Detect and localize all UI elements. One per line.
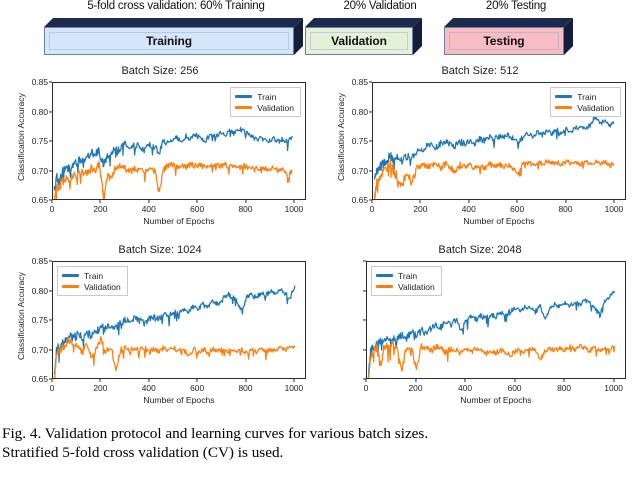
legend-row-validation: Validation: [62, 281, 121, 292]
x-tick-label: 0: [370, 204, 375, 214]
x-tick-label: 1000: [605, 204, 624, 214]
legend-text-train: Train: [257, 92, 276, 102]
y-tick-label: 0.75: [32, 136, 48, 146]
box-front-face: Validation: [305, 27, 413, 55]
x-axis-label-bs1024: Number of Epochs: [52, 395, 306, 405]
x-tick-mark: [245, 200, 246, 203]
legend-row-train: Train: [376, 270, 435, 281]
y-tick-label: 0.75: [32, 315, 48, 325]
x-axis-label-bs2048: Number of Epochs: [366, 395, 626, 405]
y-tick-mark: [369, 81, 372, 82]
x-tick-label: 600: [190, 204, 204, 214]
x-tick-mark: [613, 379, 614, 382]
x-tick-mark: [245, 379, 246, 382]
x-tick-label: 800: [557, 383, 571, 393]
x-tick-label: 200: [93, 383, 107, 393]
x-tick-mark: [365, 379, 366, 382]
y-tick-mark: [49, 319, 52, 320]
plot-area-bs256: 0.650.700.750.800.8502004006008001000Cla…: [52, 82, 306, 200]
y-axis-label-bs512: Classification Accuracy: [336, 93, 346, 181]
legend-text-train: Train: [398, 271, 417, 281]
x-tick-mark: [148, 200, 149, 203]
y-tick-label: 0.80: [32, 286, 48, 296]
x-tick-label: 800: [239, 383, 253, 393]
box-label-training: Training: [146, 34, 192, 48]
chart-bs2048: Batch Size: 204802004006008001000Number …: [320, 241, 640, 420]
y-tick-mark: [363, 290, 366, 291]
series-line-validation: [54, 337, 295, 379]
legend-text-validation: Validation: [257, 103, 294, 113]
x-tick-label: 400: [142, 204, 156, 214]
y-tick-mark: [49, 260, 52, 261]
x-axis-label-bs512: Number of Epochs: [372, 216, 626, 226]
x-tick-label: 0: [50, 204, 55, 214]
y-axis-label-bs256: Classification Accuracy: [16, 93, 26, 181]
y-tick-mark: [49, 140, 52, 141]
legend-text-validation: Validation: [577, 103, 614, 113]
legend-bs2048[interactable]: TrainValidation: [371, 266, 442, 296]
y-tick-mark: [49, 170, 52, 171]
y-tick-mark: [363, 260, 366, 261]
box-front-face: Testing: [444, 27, 564, 55]
legend-text-train: Train: [84, 271, 103, 281]
y-tick-label: 0.85: [32, 256, 48, 266]
figure-page: 5-fold cross validation: 60% Training20%…: [0, 0, 640, 482]
y-tick-label: 0.70: [32, 345, 48, 355]
x-tick-mark: [100, 200, 101, 203]
x-tick-label: 0: [50, 383, 55, 393]
protocol-box-validation: Validation: [305, 18, 422, 55]
chart-bs256: Batch Size: 2560.650.700.750.800.8502004…: [0, 62, 320, 241]
y-tick-mark: [363, 319, 366, 320]
x-tick-mark: [51, 379, 52, 382]
chart-title-bs256: Batch Size: 256: [0, 65, 320, 77]
protocol-box-training: Training: [44, 18, 303, 55]
y-tick-label: 0.65: [352, 195, 368, 205]
legend-swatch-validation: [376, 285, 393, 287]
legend-bs1024[interactable]: TrainValidation: [57, 266, 128, 296]
y-tick-mark: [49, 81, 52, 82]
x-tick-mark: [415, 379, 416, 382]
plot-area-bs2048: 02004006008001000Number of EpochsTrainVa…: [366, 261, 626, 379]
x-tick-mark: [465, 379, 466, 382]
x-tick-label: 600: [510, 204, 524, 214]
validation-protocol-diagram: 5-fold cross validation: 60% Training20%…: [0, 0, 640, 62]
y-tick-mark: [369, 111, 372, 112]
y-tick-label: 0.65: [32, 374, 48, 384]
y-tick-mark: [49, 349, 52, 350]
legend-bs256[interactable]: TrainValidation: [230, 87, 301, 117]
y-tick-label: 0.85: [32, 77, 48, 87]
learning-curves-grid: Batch Size: 2560.650.700.750.800.8502004…: [0, 62, 640, 420]
box-label-testing: Testing: [483, 34, 524, 48]
x-tick-mark: [517, 200, 518, 203]
x-axis-label-bs256: Number of Epochs: [52, 216, 306, 226]
y-axis-label-bs1024: Classification Accuracy: [16, 272, 26, 360]
x-tick-mark: [51, 200, 52, 203]
caption-line-1: Fig. 4. Validation protocol and learning…: [2, 424, 638, 443]
y-tick-mark: [363, 349, 366, 350]
figure-caption: Fig. 4. Validation protocol and learning…: [2, 424, 638, 463]
x-tick-mark: [565, 200, 566, 203]
x-tick-mark: [420, 200, 421, 203]
y-tick-mark: [369, 170, 372, 171]
x-tick-mark: [293, 200, 294, 203]
y-tick-label: 0.70: [32, 166, 48, 176]
legend-row-validation: Validation: [555, 102, 614, 113]
x-tick-mark: [564, 379, 565, 382]
legend-row-train: Train: [235, 91, 294, 102]
protocol-label-0: 5-fold cross validation: 60% Training: [52, 0, 300, 12]
legend-swatch-validation: [62, 285, 79, 287]
legend-swatch-validation: [555, 106, 572, 108]
box-top-face: [44, 18, 303, 27]
box-top-face: [305, 18, 422, 27]
x-tick-mark: [613, 200, 614, 203]
legend-text-validation: Validation: [84, 282, 121, 292]
x-tick-mark: [371, 200, 372, 203]
legend-swatch-train: [62, 274, 79, 276]
y-tick-label: 0.85: [352, 77, 368, 87]
x-tick-label: 0: [364, 383, 369, 393]
y-tick-label: 0.80: [32, 107, 48, 117]
legend-swatch-train: [376, 274, 393, 276]
x-tick-label: 800: [239, 204, 253, 214]
legend-text-train: Train: [577, 92, 596, 102]
protocol-label-1: 20% Validation: [330, 0, 430, 12]
x-tick-label: 200: [93, 204, 107, 214]
x-tick-mark: [148, 379, 149, 382]
legend-row-train: Train: [62, 270, 121, 281]
chart-bs512: Batch Size: 5120.650.700.750.800.8502004…: [320, 62, 640, 241]
x-tick-mark: [514, 379, 515, 382]
y-tick-mark: [49, 111, 52, 112]
y-tick-mark: [369, 140, 372, 141]
x-tick-mark: [197, 379, 198, 382]
x-tick-label: 200: [413, 204, 427, 214]
y-tick-label: 0.65: [32, 195, 48, 205]
box-label-validation: Validation: [331, 34, 387, 48]
legend-swatch-validation: [235, 106, 252, 108]
legend-row-train: Train: [555, 91, 614, 102]
caption-line-2: Stratified 5-fold cross validation (CV) …: [2, 443, 638, 462]
x-tick-label: 1000: [285, 383, 304, 393]
series-line-train: [54, 286, 295, 375]
x-tick-label: 400: [462, 204, 476, 214]
x-tick-label: 600: [190, 383, 204, 393]
x-tick-label: 1000: [604, 383, 623, 393]
series-line-validation: [368, 342, 614, 378]
x-tick-label: 800: [559, 204, 573, 214]
series-line-train: [374, 117, 614, 180]
x-tick-mark: [468, 200, 469, 203]
chart-title-bs1024: Batch Size: 1024: [0, 244, 320, 256]
x-tick-mark: [197, 200, 198, 203]
chart-title-bs2048: Batch Size: 2048: [320, 244, 640, 256]
chart-title-bs512: Batch Size: 512: [320, 65, 640, 77]
plot-area-bs1024: 0.650.700.750.800.8502004006008001000Cla…: [52, 261, 306, 379]
y-tick-label: 0.80: [352, 107, 368, 117]
series-line-validation: [54, 161, 292, 200]
chart-bs1024: Batch Size: 10240.650.700.750.800.850200…: [0, 241, 320, 420]
x-tick-label: 200: [409, 383, 423, 393]
plot-area-bs512: 0.650.700.750.800.8502004006008001000Cla…: [372, 82, 626, 200]
x-tick-mark: [100, 379, 101, 382]
x-tick-mark: [293, 379, 294, 382]
x-tick-label: 400: [458, 383, 472, 393]
legend-swatch-train: [235, 95, 252, 97]
protocol-box-testing: Testing: [444, 18, 573, 55]
series-line-train: [368, 292, 614, 379]
legend-row-validation: Validation: [376, 281, 435, 292]
y-tick-label: 0.75: [352, 136, 368, 146]
x-tick-label: 1000: [285, 204, 304, 214]
legend-text-validation: Validation: [398, 282, 435, 292]
legend-bs512[interactable]: TrainValidation: [550, 87, 621, 117]
x-tick-label: 400: [142, 383, 156, 393]
legend-row-validation: Validation: [235, 102, 294, 113]
y-tick-label: 0.70: [352, 166, 368, 176]
y-tick-mark: [49, 290, 52, 291]
protocol-label-2: 20% Testing: [470, 0, 562, 12]
box-front-face: Training: [44, 27, 294, 55]
series-line-train: [54, 128, 292, 192]
legend-swatch-train: [555, 95, 572, 97]
x-tick-label: 600: [508, 383, 522, 393]
box-top-face: [444, 18, 573, 27]
